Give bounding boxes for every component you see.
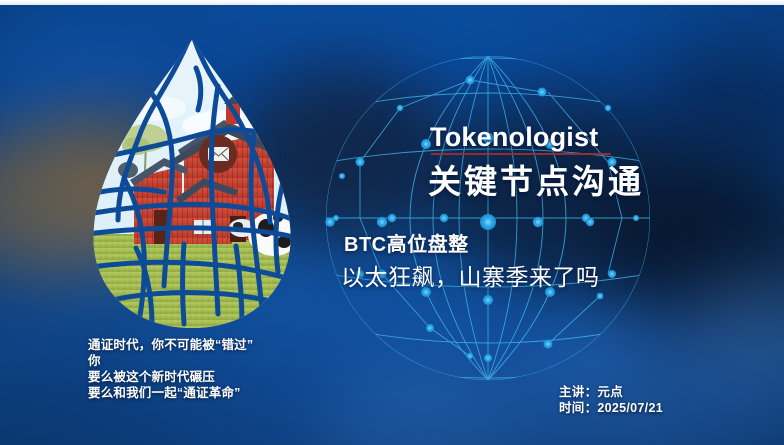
globe-node-group xyxy=(325,76,639,363)
subtitle-line-1: BTC高位盘整 xyxy=(344,228,469,257)
slogan-line: 要么被这个新时代碾压 xyxy=(88,369,348,385)
slogan-line: 你 xyxy=(88,353,348,369)
page-title-chinese: 关键节点沟通 xyxy=(428,155,644,203)
event-date: 时间：2025/07/21 xyxy=(559,400,663,416)
subtitle-line-2: 以太狂飙，山寨季来了吗 xyxy=(341,258,600,292)
speaker-name: 主讲：元点 xyxy=(559,384,663,400)
illustration-scene xyxy=(78,38,306,330)
slogan-line: 要么和我们一起“通证革命” xyxy=(88,385,348,401)
speaker-info-block: 主讲：元点 时间：2025/07/21 xyxy=(559,384,663,416)
wireframe-globe-graphic xyxy=(322,52,654,384)
slogan-line: 通证时代，你不可能被“错过” xyxy=(88,337,348,353)
page-title-english: Tokenologist xyxy=(430,122,598,153)
top-white-strip xyxy=(0,0,784,5)
slogan-block: 通证时代，你不可能被“错过” 你 要么被这个新时代碾压 要么和我们一起“通证革命… xyxy=(88,337,348,401)
presentation-slide: Tokenologist 关键节点沟通 BTC高位盘整 以太狂飙，山寨季来了吗 … xyxy=(0,0,784,445)
farm-teardrop-illustration xyxy=(78,38,306,330)
